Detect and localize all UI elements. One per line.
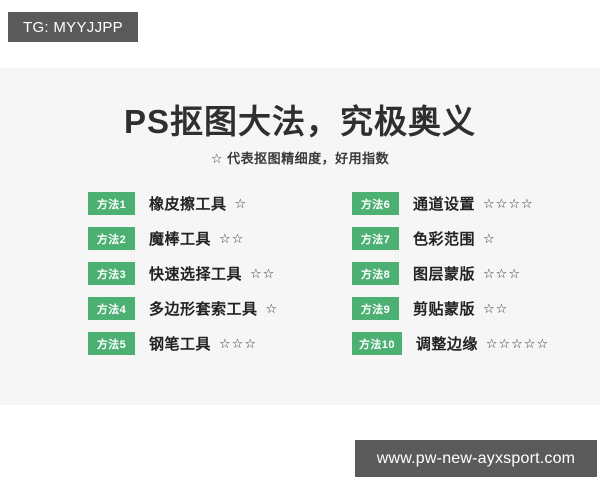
- method-row: 方法2 魔棒工具 ☆☆: [88, 227, 278, 250]
- method-rating-stars: ☆: [483, 231, 496, 247]
- method-row: 方法6 通道设置 ☆☆☆☆: [352, 192, 549, 215]
- method-row: 方法3 快速选择工具 ☆☆: [88, 262, 278, 285]
- method-label: 快速选择工具: [149, 263, 242, 284]
- method-rating-stars: ☆☆☆☆: [483, 196, 534, 212]
- method-label: 多边形套索工具: [149, 298, 258, 319]
- telegram-watermark-text: TG: MYYJJPP: [23, 19, 123, 36]
- page-subtitle: ☆ 代表抠图精细度，好用指数: [0, 148, 600, 167]
- website-url-text: www.pw-new-ayxsport.com: [377, 450, 575, 468]
- method-rating-stars: ☆☆☆☆☆: [486, 336, 549, 352]
- method-row: 方法9 剪贴蒙版 ☆☆: [352, 297, 549, 320]
- method-badge: 方法8: [352, 262, 399, 285]
- method-row: 方法4 多边形套索工具 ☆: [88, 297, 278, 320]
- telegram-watermark-banner: TG: MYYJJPP: [8, 12, 138, 42]
- content-panel: PS抠图大法，究极奥义 ☆ 代表抠图精细度，好用指数 方法1 橡皮擦工具 ☆ 方…: [0, 68, 600, 405]
- method-badge: 方法6: [352, 192, 399, 215]
- method-list-right: 方法6 通道设置 ☆☆☆☆ 方法7 色彩范围 ☆ 方法8 图层蒙版 ☆☆☆ 方法…: [352, 192, 549, 367]
- method-badge: 方法5: [88, 332, 135, 355]
- method-row: 方法1 橡皮擦工具 ☆: [88, 192, 278, 215]
- method-badge: 方法7: [352, 227, 399, 250]
- method-label: 剪贴蒙版: [413, 298, 475, 319]
- method-row: 方法8 图层蒙版 ☆☆☆: [352, 262, 549, 285]
- method-rating-stars: ☆☆: [219, 231, 244, 247]
- method-label: 图层蒙版: [413, 263, 475, 284]
- website-url-banner: www.pw-new-ayxsport.com: [355, 440, 597, 477]
- page-title: PS抠图大法，究极奥义: [0, 95, 600, 143]
- method-rating-stars: ☆☆☆: [483, 266, 521, 282]
- method-badge: 方法10: [352, 332, 402, 355]
- method-badge: 方法2: [88, 227, 135, 250]
- method-row: 方法7 色彩范围 ☆: [352, 227, 549, 250]
- method-row: 方法5 钢笔工具 ☆☆☆: [88, 332, 278, 355]
- method-badge: 方法9: [352, 297, 399, 320]
- method-badge: 方法4: [88, 297, 135, 320]
- method-label: 橡皮擦工具: [149, 193, 227, 214]
- method-label: 通道设置: [413, 193, 475, 214]
- method-list-left: 方法1 橡皮擦工具 ☆ 方法2 魔棒工具 ☆☆ 方法3 快速选择工具 ☆☆ 方法…: [88, 192, 278, 367]
- method-rating-stars: ☆☆☆: [219, 336, 257, 352]
- method-badge: 方法1: [88, 192, 135, 215]
- method-label: 钢笔工具: [149, 333, 211, 354]
- method-rating-stars: ☆: [266, 301, 279, 317]
- method-label: 调整边缘: [416, 333, 478, 354]
- method-badge: 方法3: [88, 262, 135, 285]
- method-rating-stars: ☆☆: [250, 266, 275, 282]
- method-rating-stars: ☆: [235, 196, 248, 212]
- method-row: 方法10 调整边缘 ☆☆☆☆☆: [352, 332, 549, 355]
- method-rating-stars: ☆☆: [483, 301, 508, 317]
- method-label: 色彩范围: [413, 228, 475, 249]
- method-label: 魔棒工具: [149, 228, 211, 249]
